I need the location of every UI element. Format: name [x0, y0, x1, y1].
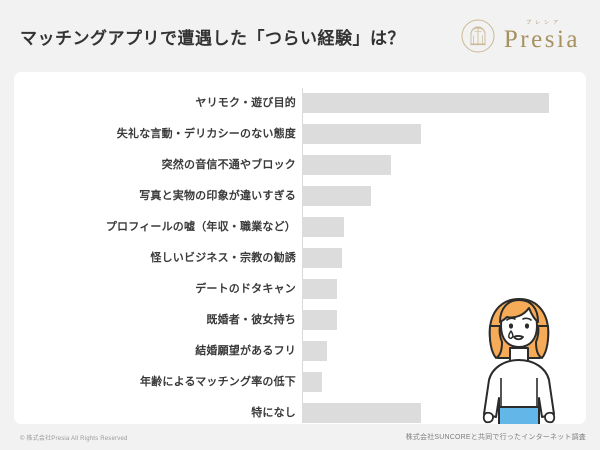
chart-row-label: 結婚願望があるフリ	[195, 336, 296, 367]
chart-row-label: デートのドタキャン	[195, 274, 296, 305]
chart-bar	[302, 93, 549, 113]
chart-rows: ヤリモク・遊び目的失礼な言動・デリカシーのない態度突然の音信不通やブロック写真と…	[14, 88, 586, 424]
logo-wordmark: Presia	[504, 27, 580, 52]
chart-row: 結婚願望があるフリ	[14, 336, 586, 367]
chart-row-label: 突然の音信不通やブロック	[162, 150, 296, 181]
chart-row: 既婚者・彼女持ち	[14, 305, 586, 336]
survey-source-text: 株式会社SUNCOREと共同で行ったインターネット調査	[406, 432, 586, 442]
chart-bar	[302, 403, 421, 423]
page-title: マッチングアプリで遭遇した「つらい経験」は？	[20, 24, 405, 49]
page-header: マッチングアプリで遭遇した「つらい経験」は？ プレシア Presia	[0, 0, 600, 72]
chart-bar	[302, 341, 327, 361]
chart-bar	[302, 279, 337, 299]
chart-row-label: 年齢によるマッチング率の低下	[140, 367, 296, 398]
chart-bar	[302, 186, 371, 206]
chart-row: デートのドタキャン	[14, 274, 586, 305]
chart-row: ヤリモク・遊び目的	[14, 88, 586, 119]
chart-row-label: 特になし	[251, 398, 296, 424]
chart-bar	[302, 372, 322, 392]
chart-row: 年齢によるマッチング率の低下	[14, 367, 586, 398]
chart-row-label: 既婚者・彼女持ち	[206, 305, 296, 336]
chart-row-label: 写真と実物の印象が違いすぎる	[139, 181, 296, 212]
chart-row-label: 怪しいビジネス・宗教の勧誘	[150, 243, 296, 274]
brand-logo[interactable]: プレシア Presia	[461, 19, 586, 53]
chart-bar	[302, 217, 344, 237]
logo-text: プレシア Presia	[504, 21, 580, 52]
chart-bar	[302, 155, 391, 175]
chart-row: 特になし	[14, 398, 586, 424]
chart-row-label: プロフィールの嘘（年収・職業など）	[106, 212, 296, 243]
arched-window-emblem-icon	[461, 19, 495, 53]
chart-card: ヤリモク・遊び目的失礼な言動・デリカシーのない態度突然の音信不通やブロック写真と…	[14, 72, 586, 424]
chart-row-label: ヤリモク・遊び目的	[195, 88, 296, 119]
chart-row: プロフィールの嘘（年収・職業など）	[14, 212, 586, 243]
chart-row: 突然の音信不通やブロック	[14, 150, 586, 181]
chart-row: 失礼な言動・デリカシーのない態度	[14, 119, 586, 150]
chart-bar	[302, 310, 337, 330]
horizontal-bar-chart: ヤリモク・遊び目的失礼な言動・デリカシーのない態度突然の音信不通やブロック写真と…	[14, 72, 586, 424]
chart-bar	[302, 248, 342, 268]
copyright-text: © 株式会社Presia All Rights Reserved	[20, 433, 128, 442]
page-footer: © 株式会社Presia All Rights Reserved 株式会社SUN…	[0, 424, 600, 450]
chart-row-label: 失礼な言動・デリカシーのない態度	[117, 119, 296, 150]
chart-row: 写真と実物の印象が違いすぎる	[14, 181, 586, 212]
chart-bar	[302, 124, 421, 144]
logo-kana-reading: プレシア	[526, 21, 562, 26]
chart-row: 怪しいビジネス・宗教の勧誘	[14, 243, 586, 274]
